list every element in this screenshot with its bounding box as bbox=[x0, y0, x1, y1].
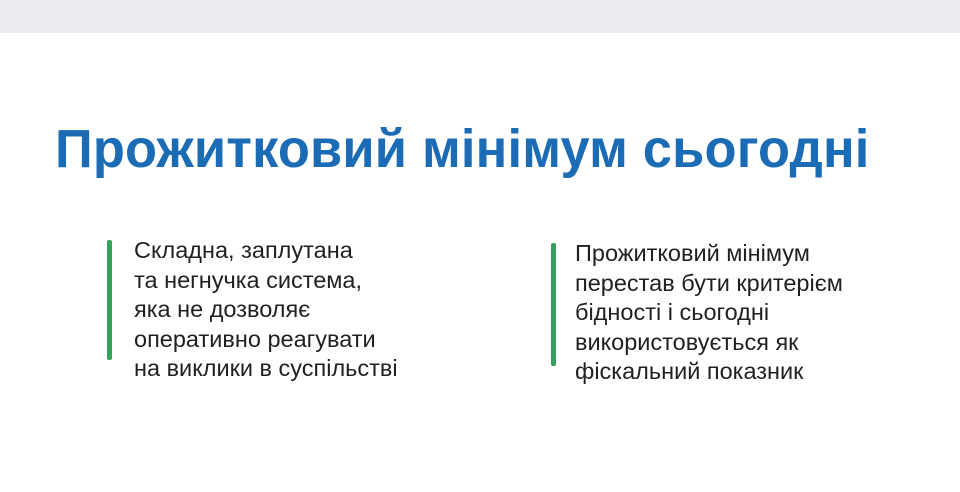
accent-bar-left bbox=[107, 240, 112, 360]
callout-text-left: Складна, заплутана та негнучка система, … bbox=[134, 236, 398, 384]
accent-bar-right bbox=[551, 243, 556, 366]
callout-text-right: Прожитковий мінімум перестав бути критер… bbox=[575, 239, 843, 387]
callout-block-right: Прожитковий мінімум перестав бути критер… bbox=[551, 239, 843, 387]
top-decorative-band bbox=[0, 0, 960, 33]
slide-canvas: Прожитковий мінімум сьогодні Складна, за… bbox=[0, 0, 960, 492]
callout-block-left: Складна, заплутана та негнучка система, … bbox=[107, 236, 398, 384]
page-title: Прожитковий мінімум сьогодні bbox=[55, 118, 899, 180]
